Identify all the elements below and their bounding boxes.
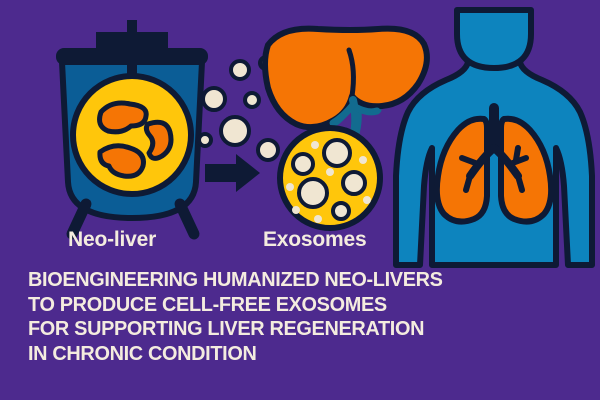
exosome-closeup [280, 128, 380, 228]
exosome-bubble [199, 134, 211, 146]
torso-shape [396, 58, 592, 265]
exosome-bubble [231, 61, 249, 79]
bioreactor-leg-right [180, 204, 194, 234]
poster-canvas: Neo-liver Exosomes BIOENGINEERING HUMANI… [0, 0, 600, 400]
process-arrow [205, 154, 260, 192]
headline-line-3: FOR SUPPORTING LIVER REGENERATION [28, 317, 571, 342]
vesicle [343, 172, 365, 194]
poster-headline: BIOENGINEERING HUMANIZED NEO-LIVERS TO P… [28, 268, 571, 366]
vesicle-dot [311, 141, 319, 149]
exosome-bubble [245, 93, 259, 107]
vesicle [333, 203, 349, 219]
vesicle [324, 140, 350, 166]
vesicle-dot [326, 168, 334, 176]
bioreactor-vessel [56, 20, 208, 234]
head-shape [457, 10, 531, 68]
exosome-bubble [258, 140, 278, 160]
label-neo-liver: Neo-liver [68, 228, 156, 252]
vesicle [293, 154, 313, 174]
vesicle-dot [314, 215, 322, 223]
exosome-bubble [203, 88, 225, 110]
organoid-2 [146, 122, 171, 158]
label-exosomes: Exosomes [263, 228, 366, 252]
headline-line-2: TO PRODUCE CELL-FREE EXOSOMES [28, 293, 571, 318]
vesicle-dot [292, 206, 300, 214]
vesicle-dot [359, 156, 367, 164]
vesicle-dot [363, 196, 371, 204]
bronchiole-left-b [466, 176, 470, 190]
bronchiole-right-b [518, 176, 522, 190]
headline-line-1: BIOENGINEERING HUMANIZED NEO-LIVERS [28, 268, 571, 293]
vesicle [299, 179, 327, 207]
bronchiole-right-c [516, 148, 518, 160]
exosome-bubble [221, 117, 249, 145]
vesicle-dot [286, 183, 294, 191]
headline-line-4: IN CHRONIC CONDITION [28, 342, 571, 367]
